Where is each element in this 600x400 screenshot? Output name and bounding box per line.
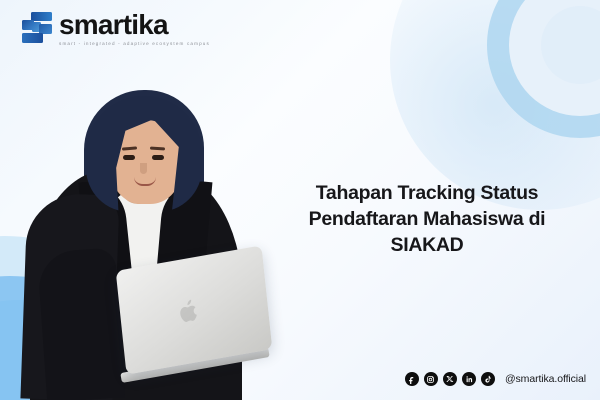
- headline-line-3: SIAKAD: [282, 232, 572, 258]
- social-media-bar: @smartika.official: [405, 372, 586, 386]
- logo-wordmark: smartika: [59, 11, 210, 39]
- eye-right: [152, 155, 164, 160]
- brand-logo: smartika smart - integrated - adaptive e…: [22, 12, 210, 48]
- social-handle: @smartika.official: [505, 373, 586, 385]
- headline-line-2: Pendaftaran Mahasiswa di: [282, 206, 572, 232]
- person-photo: [24, 70, 284, 400]
- page-title: Tahapan Tracking Status Pendaftaran Maha…: [282, 180, 572, 258]
- facebook-icon[interactable]: [405, 372, 419, 386]
- eye-left: [123, 155, 135, 160]
- headline-line-1: Tahapan Tracking Status: [282, 180, 572, 206]
- smartika-s-mark-icon: [22, 12, 52, 43]
- logo-text-block: smartika smart - integrated - adaptive e…: [59, 12, 210, 48]
- logo-tagline: smart - integrated - adaptive ecosystem …: [59, 40, 210, 48]
- tiktok-icon[interactable]: [481, 372, 495, 386]
- nose: [140, 163, 147, 174]
- instagram-icon[interactable]: [424, 372, 438, 386]
- x-twitter-icon[interactable]: [443, 372, 457, 386]
- arm-left: [37, 247, 125, 400]
- promo-poster: smartika smart - integrated - adaptive e…: [0, 0, 600, 400]
- linkedin-icon[interactable]: [462, 372, 476, 386]
- apple-logo-icon: [177, 297, 201, 326]
